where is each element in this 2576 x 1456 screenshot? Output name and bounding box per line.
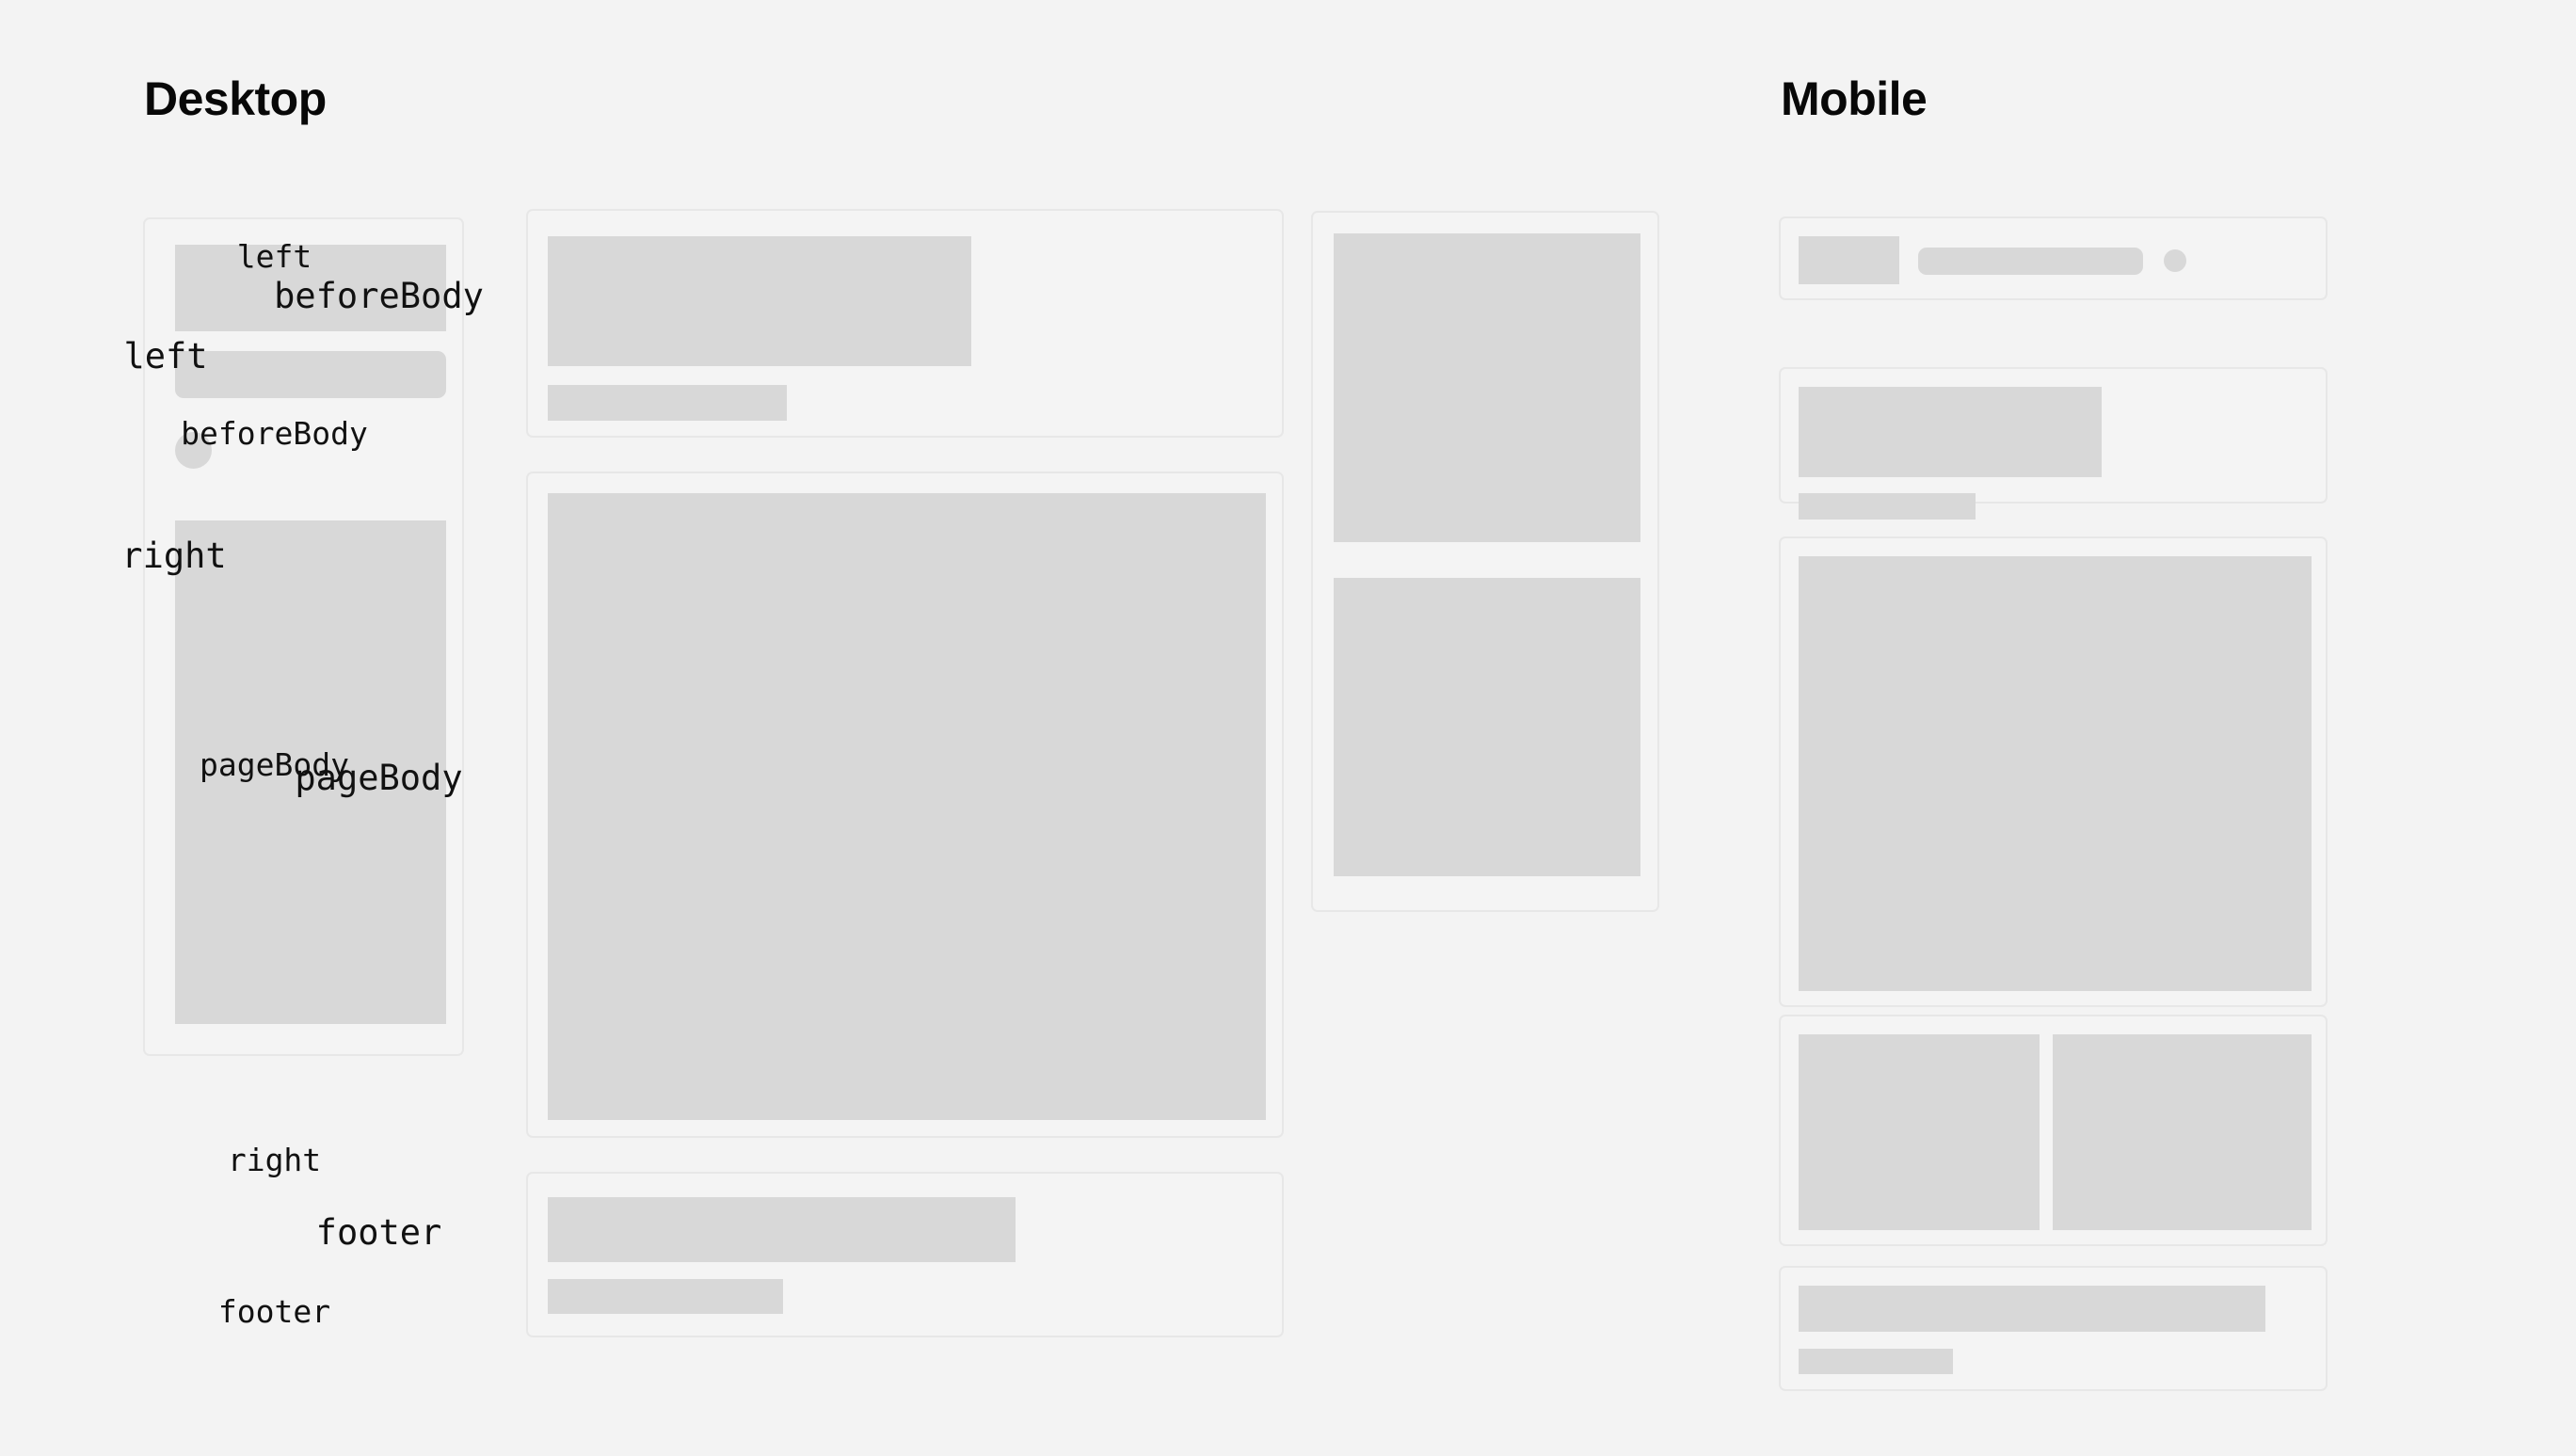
desktop-section-title: Desktop [144,75,327,122]
placeholder-bar [548,1279,783,1314]
placeholder-block [2053,1034,2312,1230]
placeholder-panel [175,520,446,1024]
placeholder-block [175,245,446,331]
mobile-slot-right[interactable] [1779,1015,2328,1246]
placeholder-bar [1799,1349,1953,1374]
mobile-slot-pagebody[interactable] [1779,536,2328,1007]
placeholder-bar [1799,1286,2265,1332]
placeholder-bar [1918,248,2143,275]
desktop-slot-left[interactable] [143,217,464,1056]
mobile-slot-right-label: right [0,1144,549,1176]
desktop-slot-beforebody[interactable] [526,209,1284,438]
desktop-slot-footer[interactable] [526,1172,1284,1337]
placeholder-bar [175,351,446,398]
desktop-slot-pagebody[interactable] [526,472,1284,1138]
placeholder-block [1334,578,1640,876]
mobile-section-title: Mobile [1781,75,1927,122]
avatar [175,432,212,469]
mobile-slot-footer[interactable] [1779,1266,2328,1391]
placeholder-bar [548,385,787,421]
mobile-slot-footer-label: footer [0,1296,549,1327]
placeholder-block [548,236,971,366]
placeholder-block [1799,1034,2040,1230]
mobile-slot-left[interactable] [1779,216,2328,300]
placeholder-block [1334,233,1640,542]
placeholder-bar [1799,493,1976,520]
placeholder-block [548,493,1266,1120]
avatar [2164,249,2186,272]
placeholder-bar [548,1197,1016,1262]
placeholder-block [1799,236,1899,284]
placeholder-block [1799,556,2312,991]
placeholder-block [1799,387,2102,477]
mobile-slot-beforebody[interactable] [1779,367,2328,504]
layout-preview-stage: Desktop left beforeBody pageBody right f… [0,0,2576,1456]
desktop-slot-right[interactable] [1311,211,1659,912]
